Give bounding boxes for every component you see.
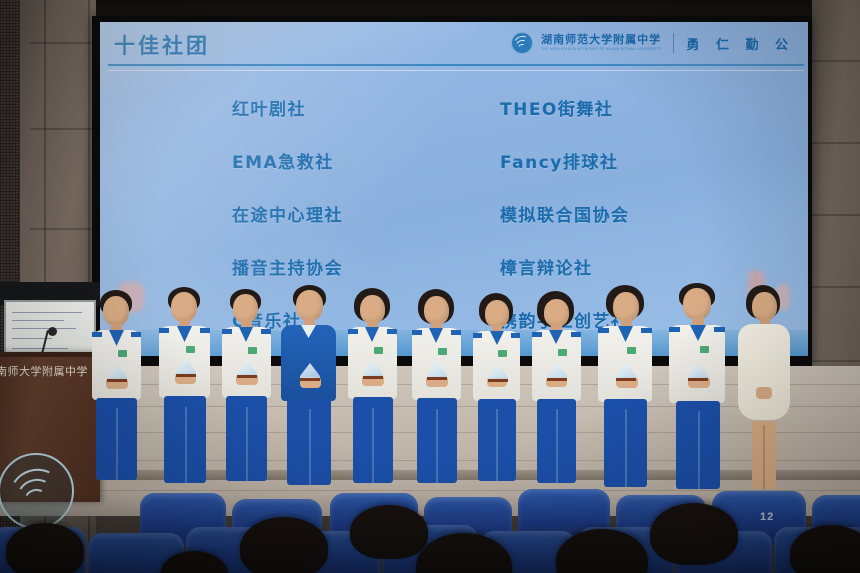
slide-title: 十佳社团 xyxy=(114,30,210,60)
club-item: 在途中心理社 xyxy=(232,190,343,243)
student-award-holder xyxy=(466,293,526,481)
school-motto: 勇 仁 勤 公 xyxy=(686,34,794,53)
audience-head xyxy=(240,517,328,573)
white-dress xyxy=(738,324,790,420)
school-name-cn: 湖南师范大学附属中学 xyxy=(541,34,661,46)
header-rule-light xyxy=(108,70,804,71)
audience-head xyxy=(650,503,738,565)
slide-header: 十佳社团 湖南师范大学附属中学 THE HIGH SCHOOL ATTACHED… xyxy=(100,26,808,72)
student-award-holder xyxy=(84,290,148,480)
header-rule xyxy=(108,64,804,66)
student-award-holder xyxy=(152,287,216,483)
seat-number: 12 xyxy=(760,511,774,523)
club-item: Fancy排球社 xyxy=(500,137,630,190)
school-brand-block: 湖南师范大学附属中学 THE HIGH SCHOOL ATTACHED TO H… xyxy=(511,32,794,54)
audience-seating: 7 12 xyxy=(0,455,860,573)
club-item: 红叶剧社 xyxy=(232,84,343,137)
student-award-holder xyxy=(404,289,468,483)
podium-school-label: 南师大学附属中学 xyxy=(0,363,96,379)
school-name-block: 湖南师范大学附属中学 THE HIGH SCHOOL ATTACHED TO H… xyxy=(541,34,661,51)
school-name-en: THE HIGH SCHOOL ATTACHED TO HUNAN NORMAL… xyxy=(541,48,661,52)
microphone-icon xyxy=(48,327,57,336)
club-item: EMA急救社 xyxy=(232,137,343,190)
club-item: 模拟联合国协会 xyxy=(500,190,630,243)
photo-scene: 十佳社团 湖南师范大学附属中学 THE HIGH SCHOOL ATTACHED… xyxy=(0,0,860,573)
brand-divider xyxy=(673,33,674,53)
student-award-holder xyxy=(214,289,278,481)
audience-head xyxy=(350,505,428,559)
club-item: THEO街舞社 xyxy=(500,84,630,137)
school-crest-logo xyxy=(511,32,533,54)
student-award-holder xyxy=(340,288,404,483)
audience-head xyxy=(6,523,84,573)
